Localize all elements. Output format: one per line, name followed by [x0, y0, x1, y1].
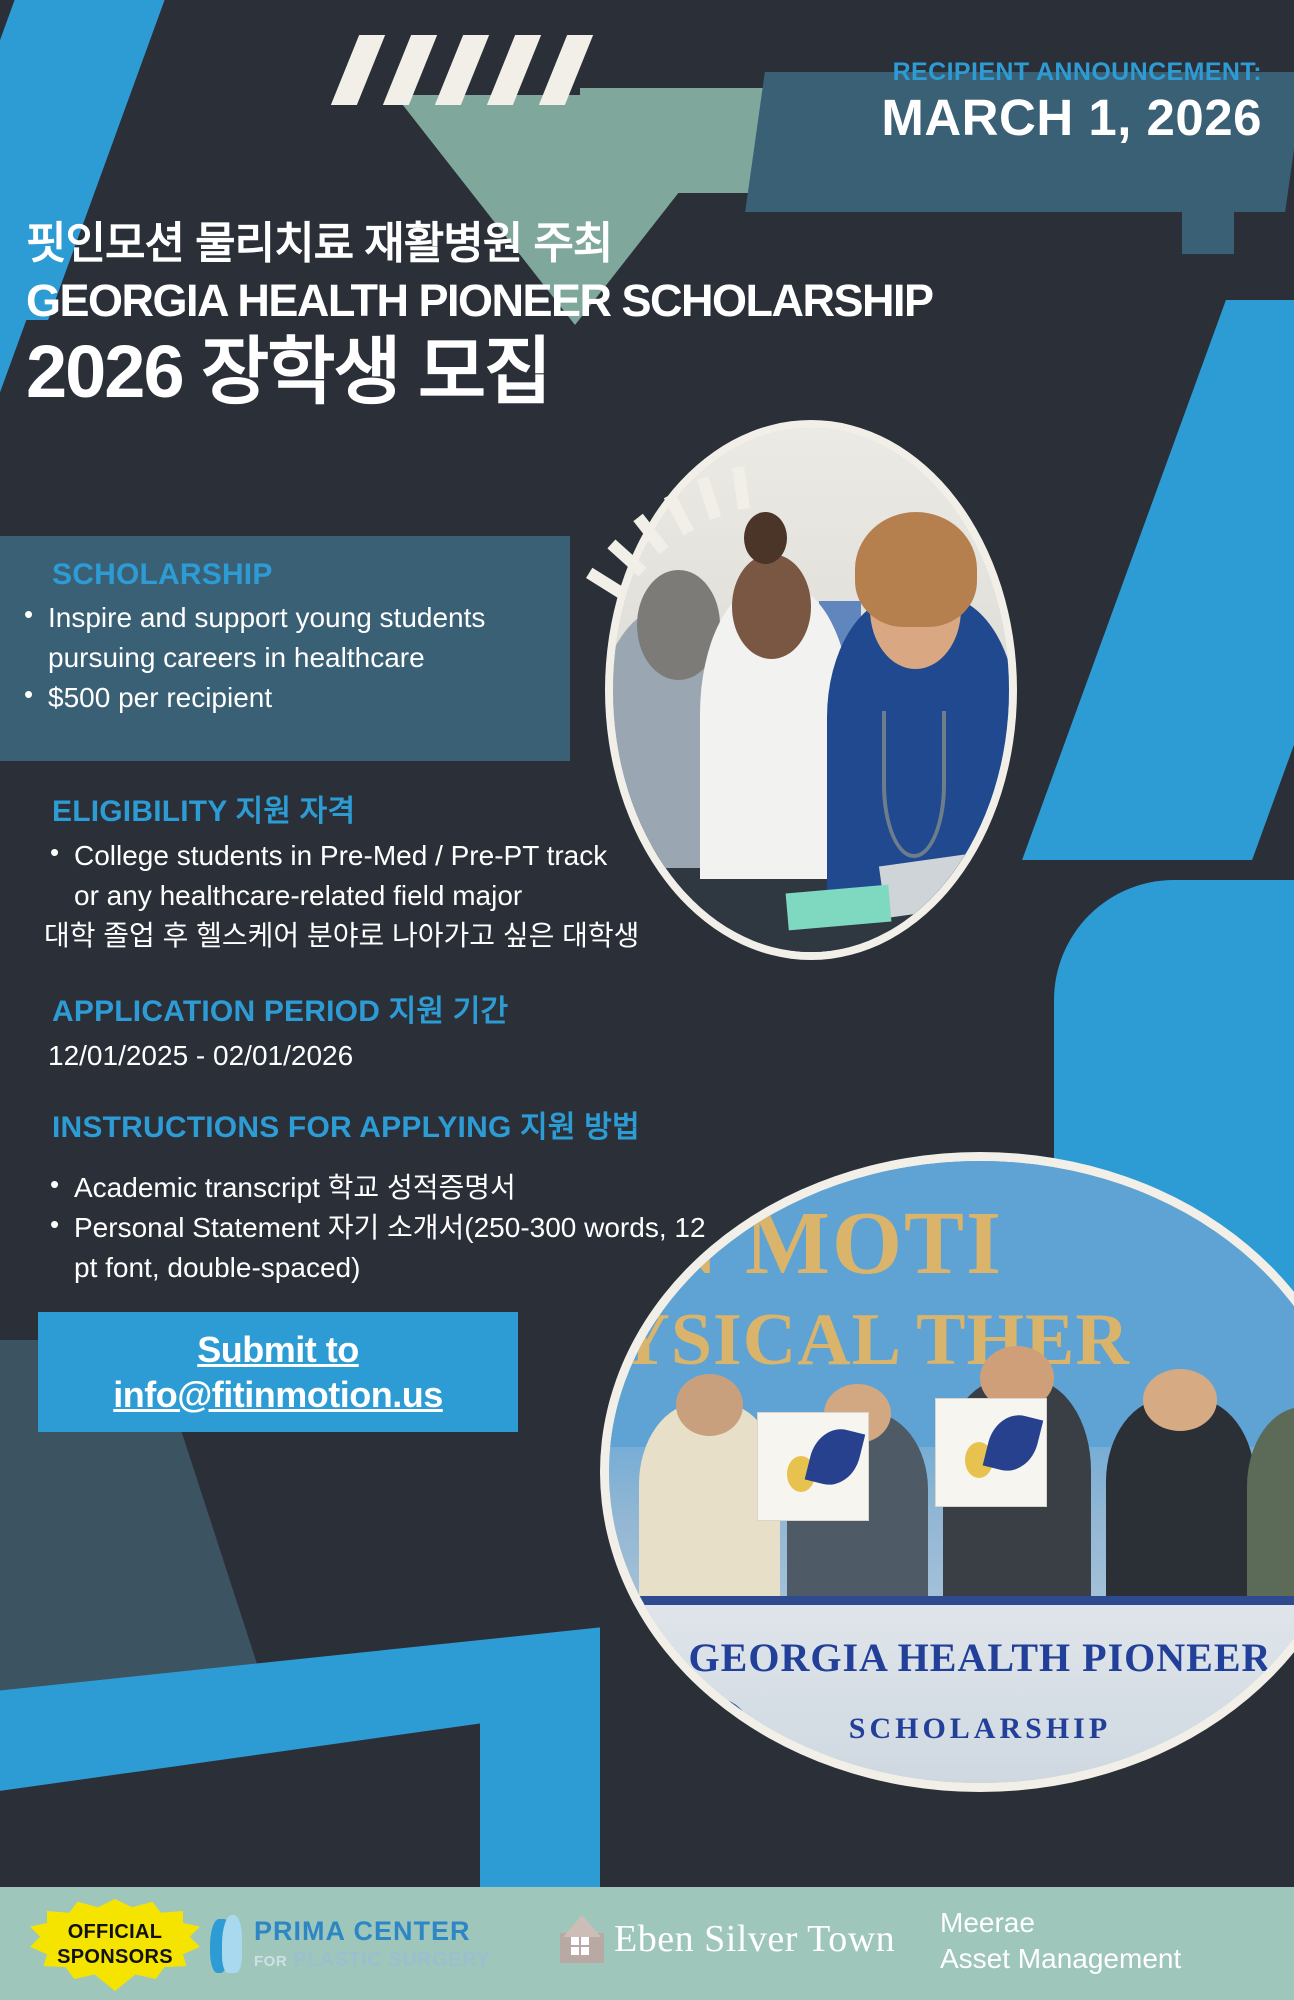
recipient-announcement-block: RECIPIENT ANNOUNCEMENT: MARCH 1, 2026: [770, 58, 1280, 145]
eligibility-section: ELIGIBILITY 지원 자격 College students in Pr…: [26, 786, 706, 955]
sponsor-meerae-line-1: Meerae: [940, 1905, 1035, 1941]
eligibility-line-1: College students in Pre-Med / Pre-PT tra…: [74, 840, 607, 871]
list-item: $500 per recipient: [18, 678, 560, 718]
application-period-section: APPLICATION PERIOD 지원 기간 12/01/2025 - 02…: [26, 986, 666, 1076]
title-scholarship-name: GEORGIA HEALTH PIONEER SCHOLARSHIP: [26, 274, 1036, 327]
eligibility-bullet-list: College students in Pre-Med / Pre-PT tra…: [26, 836, 706, 876]
sponsor-eben-name: Eben Silver Town: [614, 1917, 895, 1961]
decorative-slate-square: [1182, 208, 1234, 254]
sponsor-meerae-line-2: Asset Management: [940, 1941, 1181, 1977]
page-title: 핏인모션 물리치료 재활병원 주최 GEORGIA HEALTH PIONEER…: [26, 218, 1036, 414]
prima-center-logo-icon: [208, 1915, 244, 1975]
decorative-dash-arc: [595, 455, 765, 615]
instructions-heading: INSTRUCTIONS FOR APPLYING 지원 방법: [52, 1102, 726, 1146]
stethoscope-shape: [882, 711, 945, 858]
eligibility-line-3: 대학 졸업 후 헬스케어 분야로 나아가고 싶은 대학생: [44, 916, 706, 956]
list-item: College students in Pre-Med / Pre-PT tra…: [44, 836, 696, 876]
photo-certificate: [935, 1398, 1046, 1507]
recipient-announcement-label: RECIPIENT ANNOUNCEMENT:: [770, 58, 1262, 87]
photo-award-ceremony: N MOTI YSICAL THER GEORGIA HEALTH PIONEE…: [600, 1152, 1294, 1792]
eligibility-line-2: or any healthcare-related field major: [74, 876, 706, 916]
eligibility-heading: ELIGIBILITY 지원 자격: [52, 786, 706, 830]
list-item: Inspire and support young students pursu…: [18, 598, 560, 678]
title-korean-host: 핏인모션 물리치료 재활병원 주최: [26, 218, 1036, 270]
photo-person-head: [1143, 1369, 1217, 1430]
photo-award-recipients: [609, 1360, 1294, 1596]
photo-person-head: [676, 1374, 743, 1435]
submit-label[interactable]: Submit to: [197, 1327, 358, 1372]
photo-sign-text-line-1: N MOTI: [654, 1192, 1004, 1295]
decorative-dash-stripes-top: [345, 35, 585, 105]
sponsor-prima-center: PRIMA CENTER FOR PLASTIC SURGERY: [208, 1915, 490, 1975]
scholarship-panel: SCHOLARSHIP Inspire and support young st…: [0, 536, 570, 761]
application-period-dates: 12/01/2025 - 02/01/2026: [48, 1036, 666, 1076]
scholarship-bullet-list: Inspire and support young students pursu…: [0, 598, 570, 717]
official-sponsors-badge-label: OFFICIAL SPONSORS: [30, 1920, 200, 1970]
recipient-announcement-date: MARCH 1, 2026: [770, 91, 1262, 145]
decorative-blue-band-right: [1022, 300, 1294, 860]
sponsor-prima-name: PRIMA CENTER: [254, 1918, 490, 1945]
photo-person: [1247, 1407, 1294, 1596]
house-icon: [560, 1915, 604, 1963]
sponsor-prima-for: FOR: [254, 1953, 287, 1970]
photo-person-right-hair: [855, 512, 978, 627]
submit-email-link[interactable]: info@fitinmotion.us: [113, 1372, 443, 1417]
photo-banner-line-1: GEORGIA HEALTH PIONEER: [631, 1634, 1294, 1681]
sponsor-meerae-asset-management: Meerae Asset Management: [940, 1905, 1181, 1978]
scholarship-poster: RECIPIENT ANNOUNCEMENT: MARCH 1, 2026 핏인…: [0, 0, 1294, 2000]
sponsor-prima-specialty: PLASTIC SURGERY: [293, 1949, 490, 1971]
sponsors-footer: OFFICIAL SPONSORS PRIMA CENTER FOR PLAST…: [0, 1887, 1294, 2000]
submit-callout-box[interactable]: Submit to info@fitinmotion.us: [38, 1312, 518, 1432]
sponsor-eben-silver-town: Eben Silver Town: [560, 1915, 895, 1963]
application-period-heading: APPLICATION PERIOD 지원 기간: [52, 986, 666, 1030]
photo-banner: GEORGIA HEALTH PIONEER SCHOLARSHIP: [609, 1596, 1294, 1783]
official-sponsors-badge: OFFICIAL SPONSORS: [30, 1899, 200, 1991]
photo-banner-line-2: SCHOLARSHIP: [631, 1712, 1294, 1746]
sponsor-prima-subtitle: FOR PLASTIC SURGERY: [254, 1948, 490, 1972]
photo-award-ceremony-image: N MOTI YSICAL THER GEORGIA HEALTH PIONEE…: [609, 1161, 1294, 1783]
title-korean-main: 2026 장학생 모집: [26, 329, 1036, 414]
house-window-icon: [571, 1937, 589, 1955]
scholarship-heading: SCHOLARSHIP: [52, 558, 570, 592]
photo-certificate: [757, 1412, 868, 1521]
